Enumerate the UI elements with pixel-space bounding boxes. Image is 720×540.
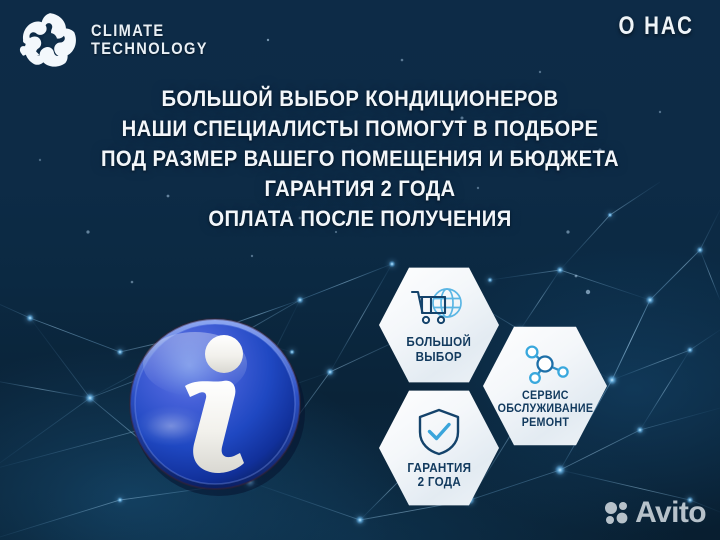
feature-label-line-2: 2 ГОДА — [407, 475, 471, 489]
feature-label-line-2: ОБСЛУЖИВАНИЕ — [497, 403, 593, 416]
feature-hex-choice-label: БОЛЬШОЙ ВЫБОР — [407, 335, 472, 364]
poster-header: CLIMATE TECHNOLOGY О НАС — [0, 0, 720, 78]
feature-label-line-3: РЕМОНТ — [497, 417, 593, 430]
brand-name-line2: TECHNOLOGY — [91, 40, 208, 58]
brand-logo[interactable]: CLIMATE TECHNOLOGY — [18, 8, 227, 72]
headline-block: БОЛЬШОЙ ВЫБОР КОНДИЦИОНЕРОВ НАШИ СПЕЦИАЛ… — [0, 84, 720, 234]
avito-wordmark: Avito — [635, 496, 706, 530]
avito-dots-icon — [604, 500, 630, 526]
headline-line-2: НАШИ СПЕЦИАЛИСТЫ ПОМОГУТ В ПОДБОРЕ — [29, 114, 691, 144]
headline-line-4: ГАРАНТИЯ 2 ГОДА — [29, 174, 691, 204]
info-letter-i-icon[interactable] — [127, 316, 307, 496]
page-title: О НАС — [619, 12, 694, 41]
brand-name-line1: CLIMATE — [91, 22, 208, 40]
star-specks-graphic — [0, 0, 720, 540]
spiral-fan-logo-icon — [18, 8, 82, 72]
feature-label-line-2: ВЫБОР — [407, 350, 472, 364]
headline-line-5: ОПЛАТА ПОСЛЕ ПОЛУЧЕНИЯ — [29, 204, 691, 234]
shield-check-icon — [416, 407, 462, 457]
shopping-cart-globe-icon — [409, 286, 469, 330]
poster-canvas: CLIMATE TECHNOLOGY О НАС БОЛЬШОЙ ВЫБОР К… — [0, 0, 720, 540]
feature-hex-service-label: СЕРВИС ОБСЛУЖИВАНИЕ РЕМОНТ — [497, 390, 593, 430]
feature-hex-warranty-label: ГАРАНТИЯ 2 ГОДА — [407, 461, 471, 490]
feature-label-line-1: СЕРВИС — [497, 390, 593, 403]
network-nodes-icon — [518, 342, 572, 386]
headline-line-1: БОЛЬШОЙ ВЫБОР КОНДИЦИОНЕРОВ — [29, 84, 691, 114]
avito-watermark: Avito — [604, 496, 706, 530]
feature-label-line-1: БОЛЬШОЙ — [407, 335, 472, 349]
feature-label-line-1: ГАРАНТИЯ — [407, 461, 471, 475]
headline-line-3: ПОД РАЗМЕР ВАШЕГО ПОМЕЩЕНИЯ И БЮДЖЕТА — [29, 144, 691, 174]
